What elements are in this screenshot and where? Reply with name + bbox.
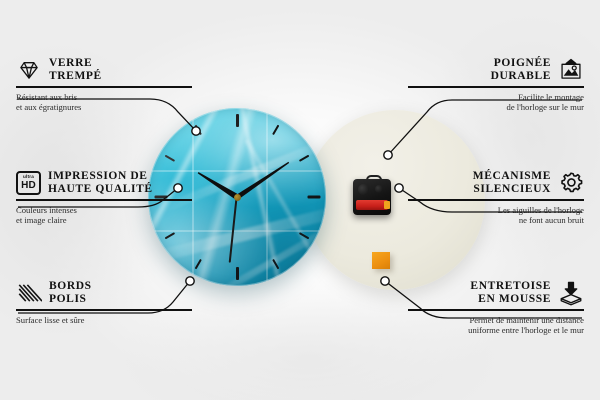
mechanism-dial-secondary <box>375 185 383 193</box>
feature-header: MÉCANISME SILENCIEUX <box>408 170 584 196</box>
clock-mechanism <box>353 175 391 215</box>
feature-divider <box>408 86 584 88</box>
feature-title: ENTRETOISE EN MOUSSE <box>470 280 551 306</box>
feature-impression-haute-qualite: ultra HD IMPRESSION DE HAUTE QUALITÉ Cou… <box>16 170 192 225</box>
infographic-canvas: VERRE TREMPÉ Résistant aux bris et aux é… <box>0 0 600 400</box>
feature-header: VERRE TREMPÉ <box>16 57 192 83</box>
feature-title: POIGNÉE DURABLE <box>491 57 551 83</box>
feature-verre-trempe: VERRE TREMPÉ Résistant aux bris et aux é… <box>16 57 192 112</box>
feature-entretoise-en-mousse: ENTRETOISE EN MOUSSE Permet de maintenir… <box>408 280 584 335</box>
ultra-hd-big-label: HD <box>21 181 36 191</box>
battery-positive-terminal <box>384 201 390 209</box>
gear-icon <box>558 170 584 196</box>
feature-header: ultra HD IMPRESSION DE HAUTE QUALITÉ <box>16 170 192 196</box>
feature-divider <box>408 199 584 201</box>
feature-mecanisme-silencieux: MÉCANISME SILENCIEUX Les aiguilles de l'… <box>408 170 584 225</box>
feature-title: BORDS POLIS <box>49 280 92 306</box>
feature-title: VERRE TREMPÉ <box>49 57 102 83</box>
feature-divider <box>408 309 584 311</box>
feature-description: Surface lisse et sûre <box>16 315 192 325</box>
feature-divider <box>16 199 192 201</box>
feature-divider <box>16 309 192 311</box>
picture-hanger-icon <box>558 57 584 83</box>
feature-description: Couleurs intenses et image claire <box>16 205 192 226</box>
feature-header: POIGNÉE DURABLE <box>408 57 584 83</box>
feature-poignee-durable: POIGNÉE DURABLE Facilite le montage de l… <box>408 57 584 112</box>
feature-header: ENTRETOISE EN MOUSSE <box>408 280 584 306</box>
hand-center-cap <box>234 194 241 201</box>
feature-header: BORDS POLIS <box>16 280 192 306</box>
feature-description: Permet de maintenir une distance uniform… <box>408 315 584 336</box>
feature-description: Facilite le montage de l'horloge sur le … <box>408 92 584 113</box>
mechanism-dial <box>358 184 369 195</box>
ultra-hd-icon: ultra HD <box>16 171 41 195</box>
feature-divider <box>16 86 192 88</box>
polished-edges-icon <box>16 280 42 306</box>
diamond-icon <box>16 57 42 83</box>
feature-description: Résistant aux bris et aux égratignures <box>16 92 192 113</box>
feature-title: MÉCANISME SILENCIEUX <box>473 170 551 196</box>
foam-spacer <box>372 252 390 269</box>
feature-title: IMPRESSION DE HAUTE QUALITÉ <box>48 170 153 196</box>
feature-description: Les aiguilles de l'horloge ne font aucun… <box>408 205 584 226</box>
feature-bords-polis: BORDS POLIS Surface lisse et sûre <box>16 280 192 325</box>
foam-spacer-icon <box>558 280 584 306</box>
